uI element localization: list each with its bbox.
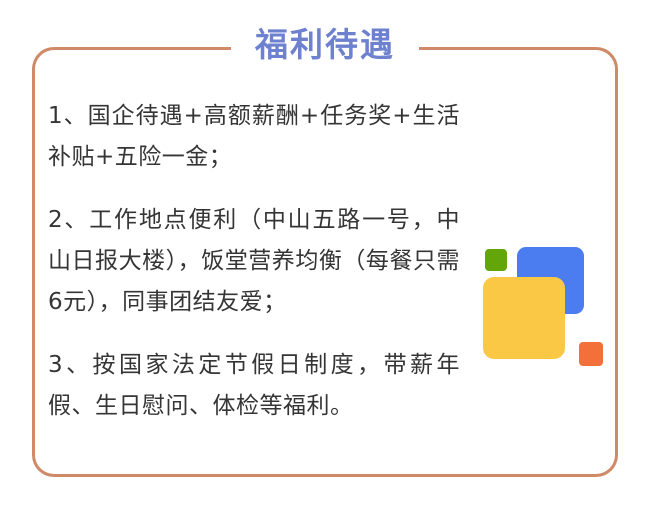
benefits-poster: 福利待遇 1、国企待遇+高额薪酬+任务奖+生活补贴+五险一金； 2、工作地点便利… <box>0 0 650 513</box>
frame-top-right-rule <box>413 47 560 50</box>
benefit-item-1: 1、国企待遇+高额薪酬+任务奖+生活补贴+五险一金； <box>48 96 460 178</box>
benefit-item-2: 2、工作地点便利（中山五路一号，中山日报大楼），饭堂营养均衡（每餐只需6元），同… <box>48 200 460 323</box>
page-title: 福利待遇 <box>231 22 419 68</box>
benefits-list: 1、国企待遇+高额薪酬+任务奖+生活补贴+五险一金； 2、工作地点便利（中山五路… <box>48 96 460 427</box>
green-square-icon <box>485 249 507 271</box>
decorative-squares-graphic <box>455 225 625 385</box>
yellow-square-icon <box>483 277 565 359</box>
benefit-item-3: 3、按国家法定节假日制度，带薪年假、生日慰问、体检等福利。 <box>48 345 460 427</box>
orange-square-icon <box>579 342 603 366</box>
frame-top-left-rule <box>90 47 242 50</box>
